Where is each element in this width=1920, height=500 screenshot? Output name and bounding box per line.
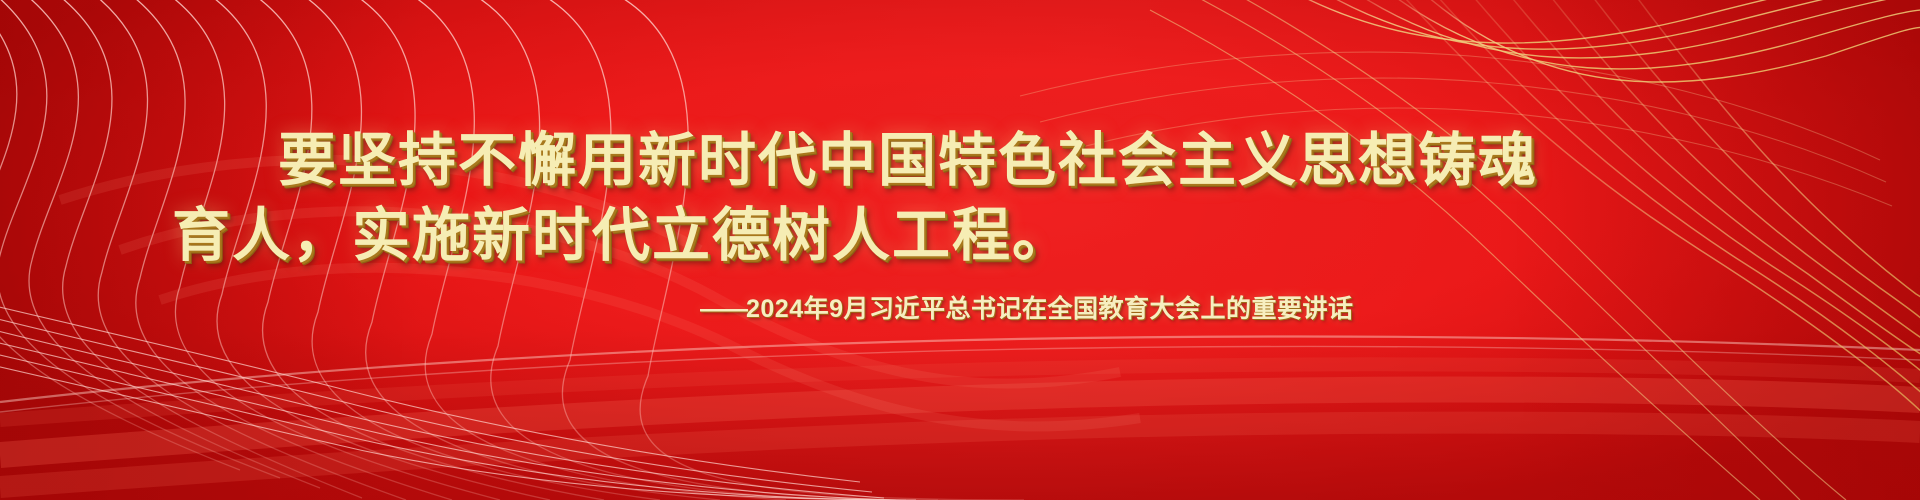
banner-text-block: 要坚持不懈用新时代中国特色社会主义思想铸魂 育人，实施新时代立德树人工程。 ——… [0, 0, 1920, 500]
headline-line-1: 要坚持不懈用新时代中国特色社会主义思想铸魂 [278, 113, 1538, 197]
attribution-line: ——2024年9月习近平总书记在全国教育大会上的重要讲话 [700, 289, 1354, 325]
headline-line-2: 育人，实施新时代立德树人工程。 [172, 188, 1072, 272]
attribution-dash: —— [700, 295, 746, 323]
attribution-text: 2024年9月习近平总书记在全国教育大会上的重要讲话 [746, 295, 1354, 323]
propaganda-banner: 要坚持不懈用新时代中国特色社会主义思想铸魂 育人，实施新时代立德树人工程。 ——… [0, 0, 1920, 500]
